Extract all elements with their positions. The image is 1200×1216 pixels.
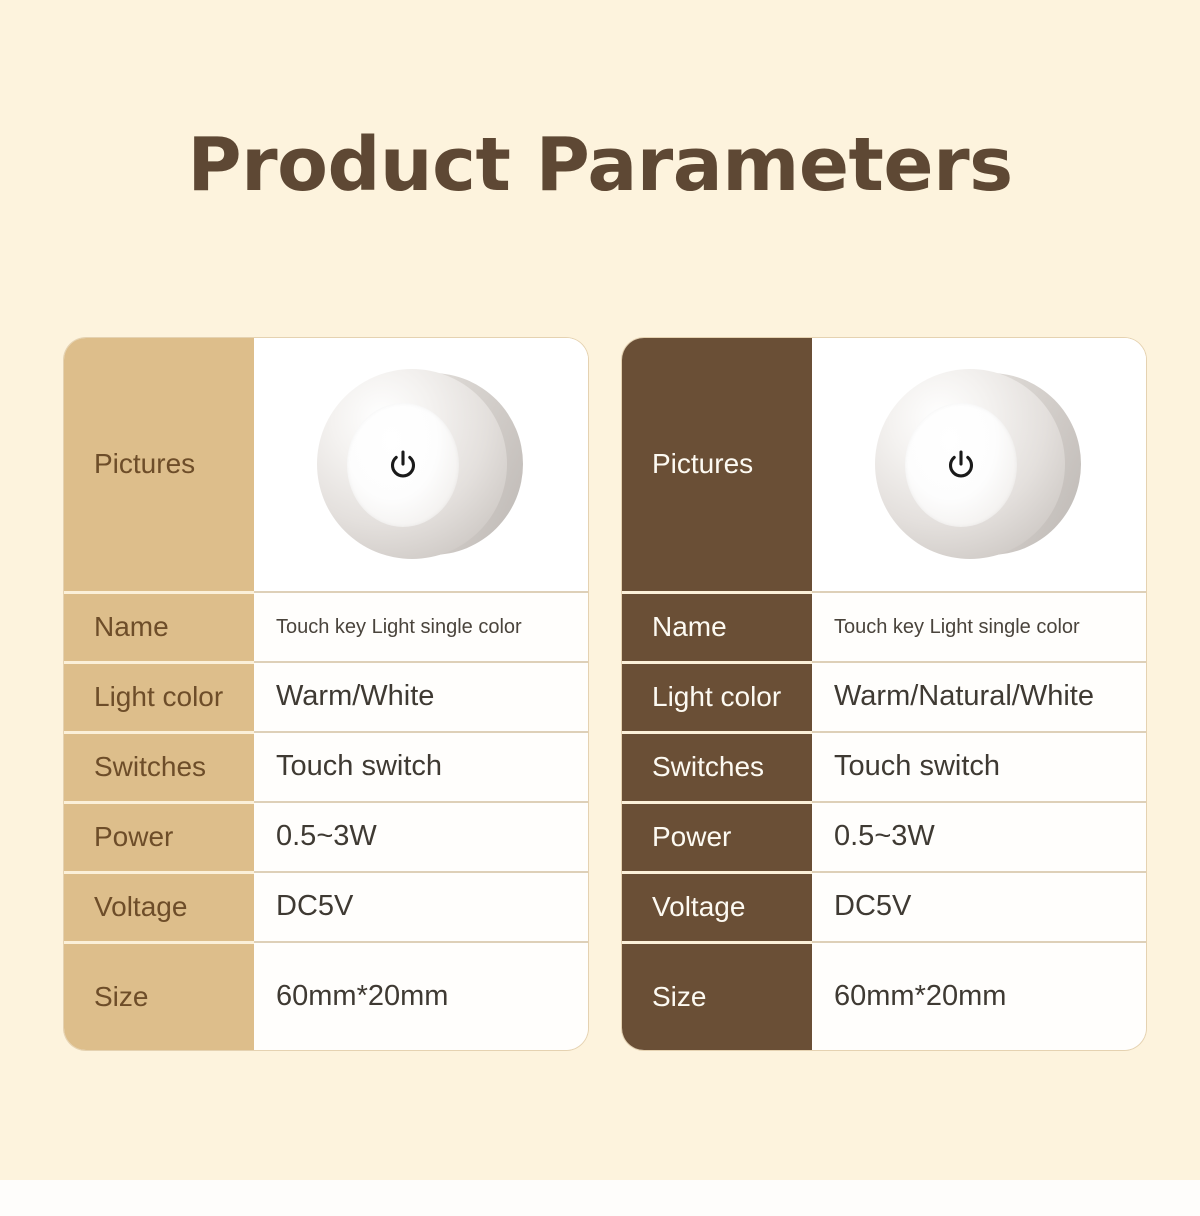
puck-light-photo: [873, 367, 1085, 563]
table-row: Name Touch key Light single color: [64, 592, 588, 662]
row-label-voltage: Voltage: [622, 872, 812, 942]
puck-body: [317, 369, 507, 559]
spec-table: Pictures: [622, 338, 1146, 1050]
puck-light-photo: [315, 367, 527, 563]
table-row: Switches Touch switch: [64, 732, 588, 802]
power-icon: [388, 449, 418, 481]
row-value-name: Touch key Light single color: [812, 592, 1146, 662]
table-row: Light color Warm/Natural/White: [622, 662, 1146, 732]
row-value-voltage: DC5V: [254, 872, 588, 942]
row-value-power: 0.5~3W: [254, 802, 588, 872]
row-label-size: Size: [622, 942, 812, 1050]
row-value-switches: Touch switch: [812, 732, 1146, 802]
row-value-pictures: [254, 338, 588, 592]
table-row: Pictures: [64, 338, 588, 592]
row-value-light-color: Warm/Natural/White: [812, 662, 1146, 732]
spec-table: Pictures: [64, 338, 588, 1050]
table-row: Light color Warm/White: [64, 662, 588, 732]
row-label-switches: Switches: [622, 732, 812, 802]
table-row: Power 0.5~3W: [64, 802, 588, 872]
row-value-switches: Touch switch: [254, 732, 588, 802]
puck-touch-button: [905, 403, 1017, 527]
row-label-light-color: Light color: [622, 662, 812, 732]
row-label-voltage: Voltage: [64, 872, 254, 942]
table-row: Voltage DC5V: [622, 872, 1146, 942]
row-label-power: Power: [622, 802, 812, 872]
product-image-wrap: [812, 338, 1146, 591]
row-label-pictures: Pictures: [64, 338, 254, 592]
product-image-wrap: [254, 338, 588, 591]
row-value-voltage: DC5V: [812, 872, 1146, 942]
row-value-size: 60mm*20mm: [812, 942, 1146, 1050]
row-label-size: Size: [64, 942, 254, 1050]
table-row: Switches Touch switch: [622, 732, 1146, 802]
table-row: Voltage DC5V: [64, 872, 588, 942]
puck-touch-button: [347, 403, 459, 527]
row-label-name: Name: [622, 592, 812, 662]
puck-body: [875, 369, 1065, 559]
row-label-name: Name: [64, 592, 254, 662]
table-row: Pictures: [622, 338, 1146, 592]
row-value-pictures: [812, 338, 1146, 592]
table-row: Size 60mm*20mm: [622, 942, 1146, 1050]
spec-card-three-color: Pictures: [622, 338, 1146, 1050]
table-row: Name Touch key Light single color: [622, 592, 1146, 662]
page-title: Product Parameters: [0, 128, 1200, 202]
row-value-light-color: Warm/White: [254, 662, 588, 732]
row-value-power: 0.5~3W: [812, 802, 1146, 872]
row-label-power: Power: [64, 802, 254, 872]
row-label-pictures: Pictures: [622, 338, 812, 592]
product-parameters-page: Product Parameters Pictures: [0, 0, 1200, 1216]
table-row: Size 60mm*20mm: [64, 942, 588, 1050]
row-value-name: Touch key Light single color: [254, 592, 588, 662]
page-bottom-strip: [0, 1180, 1200, 1216]
row-value-size: 60mm*20mm: [254, 942, 588, 1050]
spec-card-single-color: Pictures: [64, 338, 588, 1050]
table-row: Power 0.5~3W: [622, 802, 1146, 872]
row-label-switches: Switches: [64, 732, 254, 802]
power-icon: [946, 449, 976, 481]
row-label-light-color: Light color: [64, 662, 254, 732]
